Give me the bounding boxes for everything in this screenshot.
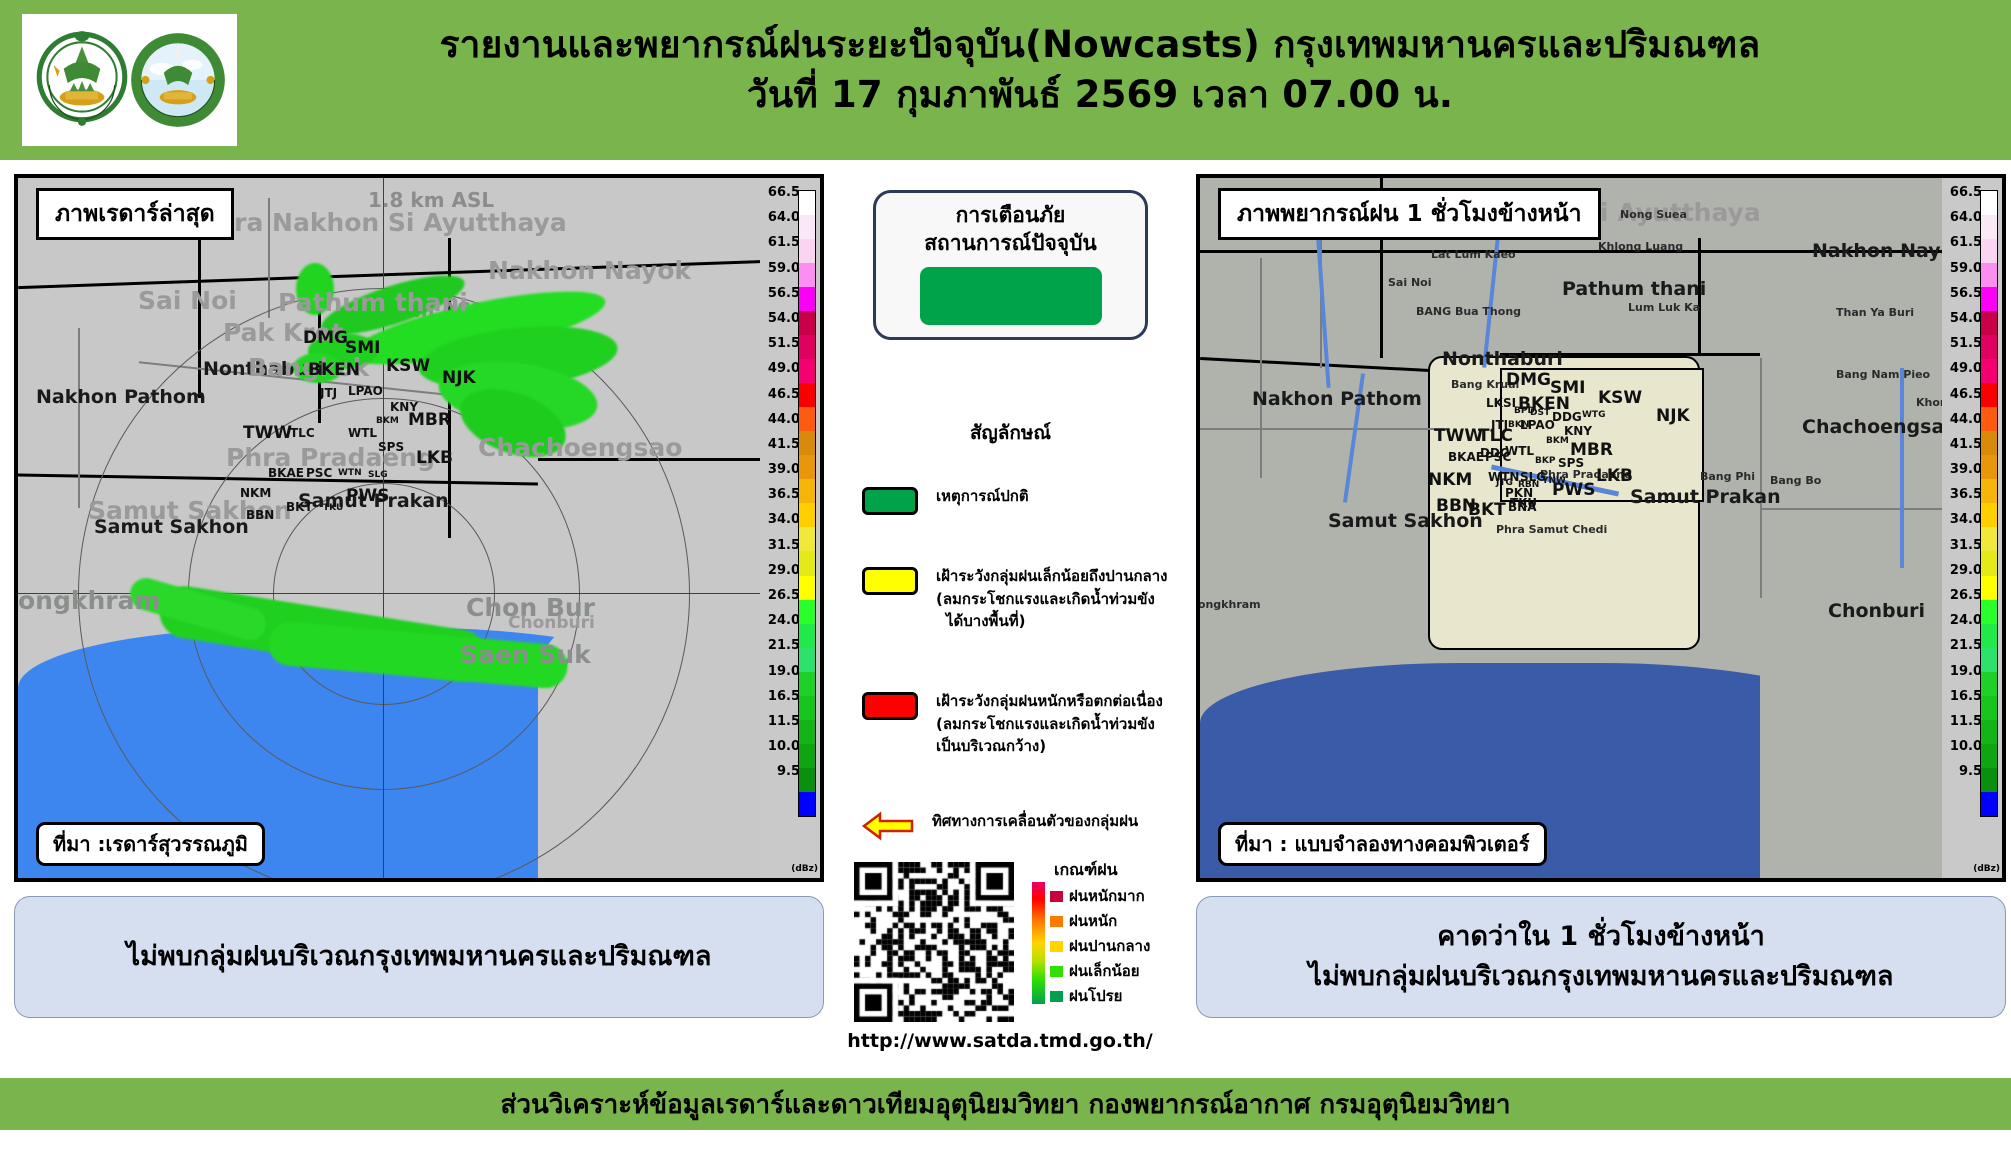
colorbar-segment — [799, 359, 815, 383]
colorbar-tick: 46.5 — [1942, 388, 1982, 413]
rain-scale-item: ฝนเล็กน้อย — [1050, 959, 1140, 983]
colorbar-segment — [1981, 720, 1997, 744]
colorbar-tick: 29.0 — [760, 564, 800, 589]
colorbar-segment — [1981, 191, 1997, 215]
colorbar-tick: 34.0 — [1942, 513, 1982, 538]
colorbar-tick: 46.5 — [760, 388, 800, 413]
province-label-chachoengsao: Chachoengsao — [1802, 416, 1942, 438]
legend-item: เหตุการณ์ปกติ — [862, 485, 1029, 515]
colorbar-segment — [799, 720, 815, 744]
colorbar-tick: 61.5 — [760, 236, 800, 261]
colorbar-tick: 11.5 — [760, 715, 800, 740]
colorbar-segment — [1981, 624, 1997, 648]
page-footer: ส่วนวิเคราะห์ข้อมูลเรดาร์และดาวเทียมอุตุ… — [0, 1078, 2011, 1130]
colorbar-segment — [799, 407, 815, 431]
colorbar-tick: 44.0 — [1942, 413, 1982, 438]
colorbar-tick: 66.5 — [1942, 186, 1982, 211]
colorbar-tick: 26.5 — [760, 589, 800, 614]
radar-caption-box: ไม่พบกลุ่มฝนบริเวณกรุงเทพมหานครและปริมณฑ… — [14, 896, 824, 1018]
page-title: รายงานและพยากรณ์ฝนระยะปัจจุบัน(Nowcasts)… — [250, 20, 1950, 120]
forecast-caption-box: คาดว่าใน 1 ชั่วโมงข้างหน้า ไม่พบกลุ่มฝนบ… — [1196, 896, 2006, 1018]
colorbar-tick: 49.0 — [760, 362, 800, 387]
page-title-line1: รายงานและพยากรณ์ฝนระยะปัจจุบัน(Nowcasts)… — [250, 20, 1950, 70]
legend-color-chip — [862, 487, 918, 515]
colorbar-tick: 56.5 — [760, 287, 800, 312]
colorbar-tick: 39.0 — [1942, 463, 1982, 488]
colorbar-tick-list: 66.564.061.559.056.554.051.549.046.544.0… — [1942, 186, 1982, 791]
rain-scale-item: ฝนโปรย — [1050, 984, 1122, 1008]
legend-color-chip — [862, 692, 918, 720]
colorbar-segment — [1981, 359, 1997, 383]
colorbar-tick: 49.0 — [1942, 362, 1982, 387]
rain-scale-swatch — [1050, 966, 1063, 977]
colorbar-tick: 59.0 — [1942, 262, 1982, 287]
colorbar-gradient-strip — [1980, 190, 1998, 817]
radar-caption-text: ไม่พบกลุ่มฝนบริเวณกรุงเทพมหานครและปริมณฑ… — [127, 937, 712, 978]
province-label-sai-noi: Sai Noi — [138, 286, 237, 315]
radar-crosshair-vertical — [383, 178, 384, 878]
colorbar-segment — [1981, 263, 1997, 287]
tmd-royal-emblem-logo — [30, 24, 134, 136]
district-label-lum-luk-ka: Lum Luk Ka — [1628, 301, 1700, 314]
colorbar-tick: 64.0 — [1942, 211, 1982, 236]
rain-scale-swatch — [1050, 916, 1063, 927]
colorbar-segment — [1981, 672, 1997, 696]
province-border — [18, 260, 760, 289]
province-border — [1200, 357, 1430, 372]
footer-text: ส่วนวิเคราะห์ข้อมูลเรดาร์และดาวเทียมอุตุ… — [501, 1084, 1511, 1125]
legend-label-line: เฝ้าระวังกลุ่มฝนหนักหรือตกต่อเนื่อง — [936, 690, 1163, 713]
district-label-bang-bua-thong: BANG Bua Thong — [1416, 305, 1521, 318]
colorbar-segment — [799, 503, 815, 527]
page-title-line2: วันที่ 17 กุมภาพันธ์ 2569 เวลา 07.00 น. — [250, 70, 1950, 120]
rain-scale-item: ฝนหนัก — [1050, 909, 1117, 933]
legend-item: ทิศทางการเคลื่อนตัวของกลุ่มฝน — [862, 810, 1138, 842]
warning-title-line1: การเตือนภัย — [876, 201, 1145, 229]
colorbar-tick: 16.5 — [1942, 690, 1982, 715]
radar-panel[interactable]: 1.8 km ASL 0.9 km ASL Suphan Buri Phra N… — [14, 174, 824, 882]
colorbar-segment — [799, 455, 815, 479]
colorbar-segment — [1981, 551, 1997, 575]
colorbar-segment — [1981, 455, 1997, 479]
district-border — [1760, 508, 1942, 510]
legend-label: เฝ้าระวังกลุ่มฝนหนักหรือตกต่อเนื่อง(ลมกร… — [936, 690, 1163, 758]
colorbar-segment — [1981, 407, 1997, 431]
rain-scale-label: ฝนเล็กน้อย — [1069, 959, 1140, 983]
colorbar-tick: 11.5 — [1942, 715, 1982, 740]
bangkok-metro-region-east — [1500, 368, 1704, 502]
precipitation-echo — [293, 353, 343, 383]
colorbar-tick: 66.5 — [760, 186, 800, 211]
colorbar-segment — [1981, 744, 1997, 768]
colorbar-tick: 19.0 — [760, 665, 800, 690]
warning-title: การเตือนภัย สถานการณ์ปัจจุบัน — [876, 193, 1145, 258]
colorbar-tick: 21.5 — [760, 639, 800, 664]
colorbar-segment — [799, 696, 815, 720]
colorbar-segment — [1981, 527, 1997, 551]
rain-scale-swatch — [1050, 991, 1063, 1002]
colorbar-tick-list: 66.564.061.559.056.554.051.549.046.544.0… — [760, 186, 800, 791]
colorbar-tick: 51.5 — [1942, 337, 1982, 362]
district-label-nong-suea: Nong Suea — [1620, 208, 1687, 221]
colorbar-segment — [799, 479, 815, 503]
colorbar-tick: 10.0 — [1942, 740, 1982, 765]
legend-label-line: (ลมกระโชกแรงและเกิดน้ำท่วมขัง — [936, 713, 1163, 736]
district-label-bang-bo: Bang Bo — [1770, 474, 1821, 487]
qr-url-text[interactable]: http://www.satda.tmd.go.th/ — [840, 1030, 1160, 1052]
district-border — [1760, 358, 1762, 598]
colorbar-segment — [1981, 287, 1997, 311]
qr-code-satda-tmd[interactable] — [854, 862, 1014, 1022]
colorbar-tick: 9.5 — [760, 765, 800, 790]
colorbar-segment — [1981, 431, 1997, 455]
rain-movement-arrow-icon — [862, 810, 914, 842]
colorbar-tick: 24.0 — [760, 614, 800, 639]
colorbar-tick: 54.0 — [760, 312, 800, 337]
river-east — [1900, 368, 1904, 568]
colorbar-tick: 59.0 — [760, 262, 800, 287]
colorbar-tick: 34.0 — [760, 513, 800, 538]
district-label-sai-noi: Sai Noi — [1388, 276, 1431, 289]
legend-label-line: เฝ้าระวังกลุ่มฝนเล็กน้อยถึงปานกลาง — [936, 565, 1167, 588]
colorbar-tick: 24.0 — [1942, 614, 1982, 639]
province-border — [1200, 250, 1942, 253]
colorbar-segment — [1981, 600, 1997, 624]
legend-item: เฝ้าระวังกลุ่มฝนเล็กน้อยถึงปานกลาง(ลมกระ… — [862, 565, 1167, 633]
colorbar-segment — [1981, 696, 1997, 720]
colorbar-tick: 36.5 — [760, 488, 800, 513]
rain-scale-title: เกณฑ์ฝน — [1054, 858, 1162, 883]
colorbar-segment — [1981, 311, 1997, 335]
chao-phraya-river — [1343, 373, 1365, 502]
province-border — [1500, 353, 1760, 356]
colorbar-segment — [1981, 768, 1997, 792]
colorbar-segment — [1981, 215, 1997, 239]
colorbar-tick: 64.0 — [760, 211, 800, 236]
logo-container — [22, 14, 237, 146]
district-border — [78, 328, 80, 508]
colorbar-segment — [799, 215, 815, 239]
colorbar-segment — [799, 239, 815, 263]
province-border — [1698, 238, 1701, 356]
district-label-bang-nam-pieo: Bang Nam Pieo — [1836, 368, 1930, 381]
colorbar-segment — [799, 648, 815, 672]
legend-label-line: ได้บางพื้นที่) — [936, 610, 1167, 633]
colorbar-tick: 39.0 — [760, 463, 800, 488]
colorbar-segment — [799, 431, 815, 455]
colorbar-tick: 16.5 — [760, 690, 800, 715]
radar-panel-title: ภาพเรดาร์ล่าสุด — [36, 188, 234, 240]
colorbar-segment — [799, 551, 815, 575]
colorbar-gradient-strip — [798, 190, 816, 817]
rain-scale-label: ฝนหนัก — [1069, 909, 1117, 933]
district-label-songkhram: Songkhram — [1200, 598, 1261, 611]
colorbar-segment — [1981, 479, 1997, 503]
colorbar-tick: 19.0 — [1942, 665, 1982, 690]
colorbar-segment — [799, 744, 815, 768]
colorbar-tick: 54.0 — [1942, 312, 1982, 337]
colorbar-tick: 21.5 — [1942, 639, 1982, 664]
chonburi-landmass — [1760, 598, 1942, 878]
chao-phraya-river — [1482, 218, 1502, 368]
colorbar-segment — [1981, 503, 1997, 527]
colorbar-segment — [1981, 792, 1997, 816]
colorbar-tick: 41.5 — [1942, 438, 1982, 463]
colorbar-segment — [799, 335, 815, 359]
thai-meteorological-department-logo — [126, 24, 230, 136]
colorbar-segment — [1981, 576, 1997, 600]
district-border — [1260, 258, 1262, 478]
colorbar-unit-label: (dBz) — [791, 864, 818, 874]
colorbar-tick: 29.0 — [1942, 564, 1982, 589]
district-border — [1200, 428, 1450, 430]
forecast-panel[interactable]: Suphan Buri Phra Nakhon Si Ayutthaya Non… — [1196, 174, 2006, 882]
rain-scale-label: ฝนปานกลาง — [1069, 934, 1150, 958]
colorbar-tick: 51.5 — [760, 337, 800, 362]
province-label-nakhon-pathom: Nakhon Pathom — [1252, 388, 1422, 410]
forecast-panel-source: ที่มา : แบบจำลองทางคอมพิวเตอร์ — [1218, 822, 1547, 866]
rain-scale-label: ฝนหนักมาก — [1069, 884, 1145, 908]
colorbar-segment — [799, 768, 815, 792]
warning-status-swatch — [920, 267, 1102, 325]
colorbar-segment — [799, 527, 815, 551]
colorbar-segment — [799, 383, 815, 407]
district-label-bang-phi: Bang Phi — [1700, 470, 1755, 483]
colorbar-segment — [1981, 383, 1997, 407]
forecast-caption-line2: ไม่พบกลุ่มฝนบริเวณกรุงเทพมหานครและปริมณฑ… — [1309, 957, 1894, 998]
colorbar-tick: 41.5 — [760, 438, 800, 463]
colorbar-tick: 31.5 — [1942, 539, 1982, 564]
legend-label-line: เป็นบริเวณกว้าง) — [936, 735, 1163, 758]
legend-label: เฝ้าระวังกลุ่มฝนเล็กน้อยถึงปานกลาง(ลมกระ… — [936, 565, 1167, 633]
rain-intensity-scale: เกณฑ์ฝน ฝนหนักมากฝนหนักฝนปานกลางฝนเล็กน้… — [1032, 858, 1162, 883]
rain-scale-item: ฝนปานกลาง — [1050, 934, 1150, 958]
colorbar-tick: 44.0 — [760, 413, 800, 438]
rain-scale-label: ฝนโปรย — [1069, 984, 1122, 1008]
colorbar-segment — [799, 263, 815, 287]
colorbar-segment — [799, 191, 815, 215]
page-header: รายงานและพยากรณ์ฝนระยะปัจจุบัน(Nowcasts)… — [0, 0, 2011, 160]
colorbar-unit-label: (dBz) — [1973, 864, 2000, 874]
radar-map-canvas[interactable]: 1.8 km ASL 0.9 km ASL Suphan Buri Phra N… — [18, 178, 760, 878]
colorbar-segment — [799, 624, 815, 648]
colorbar-tick: 61.5 — [1942, 236, 1982, 261]
warning-status-box[interactable]: การเตือนภัย สถานการณ์ปัจจุบัน — [873, 190, 1148, 340]
colorbar-segment — [1981, 335, 1997, 359]
district-label-khong-kuean: Khong Kuean — [1916, 396, 1942, 409]
colorbar-tick: 10.0 — [760, 740, 800, 765]
colorbar-segment — [799, 287, 815, 311]
district-label-than-ya-buri: Than Ya Buri — [1836, 306, 1914, 319]
district-border — [268, 198, 270, 318]
colorbar-segment — [1981, 648, 1997, 672]
legend-label: ทิศทางการเคลื่อนตัวของกลุ่มฝน — [932, 810, 1138, 833]
legend-label-line: ทิศทางการเคลื่อนตัวของกลุ่มฝน — [932, 810, 1138, 833]
legend-item: เฝ้าระวังกลุ่มฝนหนักหรือตกต่อเนื่อง(ลมกร… — [862, 690, 1163, 758]
forecast-map-canvas[interactable]: Suphan Buri Phra Nakhon Si Ayutthaya Non… — [1200, 178, 1942, 878]
legend-label: เหตุการณ์ปกติ — [936, 485, 1029, 508]
colorbar-tick: 26.5 — [1942, 589, 1982, 614]
legend-label-line: เหตุการณ์ปกติ — [936, 485, 1029, 508]
legend-label-line: (ลมกระโชกแรงและเกิดน้ำท่วมขัง — [936, 588, 1167, 611]
radar-dbz-colorbar: 66.564.061.559.056.554.051.549.046.544.0… — [760, 178, 820, 878]
rain-scale-swatch — [1050, 891, 1063, 902]
precipitation-echo — [296, 263, 334, 315]
forecast-caption-line1: คาดว่าใน 1 ชั่วโมงข้างหน้า — [1309, 917, 1894, 958]
altitude-label-18km: 1.8 km ASL — [368, 188, 494, 212]
forecast-panel-title: ภาพพยากรณ์ฝน 1 ชั่วโมงข้างหน้า — [1218, 188, 1601, 240]
colorbar-segment — [799, 792, 815, 816]
colorbar-tick: 31.5 — [760, 539, 800, 564]
colorbar-segment — [799, 600, 815, 624]
forecast-dbz-colorbar: 66.564.061.559.056.554.051.549.046.544.0… — [1942, 178, 2002, 878]
colorbar-segment — [799, 576, 815, 600]
radar-panel-source: ที่มา :เรดาร์สุวรรณภูมิ — [36, 822, 265, 866]
province-label-pathum-thani: Pathum thani — [1562, 278, 1706, 300]
legend-heading: สัญลักษณ์ — [873, 418, 1148, 448]
rain-scale-swatch — [1050, 941, 1063, 952]
rain-scale-gradient-bar — [1032, 882, 1045, 1004]
colorbar-tick: 36.5 — [1942, 488, 1982, 513]
colorbar-segment — [1981, 239, 1997, 263]
colorbar-tick: 9.5 — [1942, 765, 1982, 790]
rain-scale-item: ฝนหนักมาก — [1050, 884, 1145, 908]
colorbar-segment — [799, 672, 815, 696]
colorbar-tick: 56.5 — [1942, 287, 1982, 312]
warning-title-line2: สถานการณ์ปัจจุบัน — [876, 229, 1145, 257]
legend-color-chip — [862, 567, 918, 595]
colorbar-segment — [799, 311, 815, 335]
